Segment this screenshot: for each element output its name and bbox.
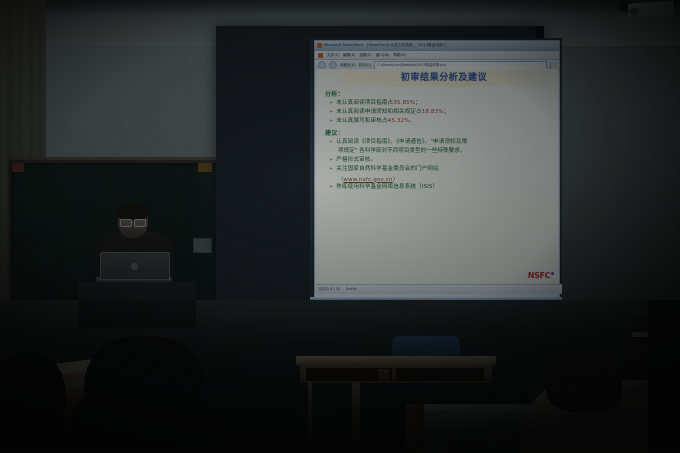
bullet-arrow-icon: ➢ <box>329 139 333 146</box>
audience-silhouette <box>72 392 222 453</box>
presenter-laptop <box>96 252 172 286</box>
bullet-text: 熟练使用科学基金网络信息系统（ISIS） <box>336 184 558 191</box>
presentation-slide: 初审结果分析及建议 分析： ➢ 未认真阅读项目指南占35.85%； ➢ 未认真阅… <box>316 69 558 284</box>
menu-bar[interactable]: 文件(F) 编辑(E) 查看(V) 窗口(W) 帮助(H) <box>315 51 559 60</box>
bullet-item: ➢ 未认真阅读申请须知和相关规定占18.83%； <box>329 109 558 116</box>
audience-silhouette <box>0 352 66 453</box>
blackboard-corner-mark <box>12 163 24 172</box>
slide-theme-name: Profile <box>346 285 357 294</box>
bullet-arrow-icon: ➢ <box>329 157 333 164</box>
bullet-item: ➢ 关注国家自然科学基金委员会的门户网站 <box>329 166 558 173</box>
blackboard-corner-mark-right <box>198 163 212 172</box>
bullet-value: 35.85% <box>393 100 415 106</box>
cup-on-shelf <box>378 369 389 381</box>
bullet-text: 未认真阅读项目指南占35.85%； <box>336 100 558 107</box>
powerpoint-app-icon <box>317 43 322 48</box>
section-heading-analysis: 分析： <box>325 89 558 98</box>
section-heading-suggestions: 建议： <box>325 128 558 137</box>
menu-item-file[interactable]: 文件(F) <box>327 51 339 59</box>
nsfc-logo: NSFC <box>528 271 554 280</box>
presenter-glasses <box>120 219 146 225</box>
projected-desktop: Microsoft PowerPoint - [PowerPoint 以实力的放… <box>310 38 562 310</box>
right-edge-shadow <box>648 300 680 453</box>
slide-title-banner: 初审结果分析及建议 <box>340 71 548 86</box>
bullet-arrow-icon: ➢ <box>329 109 333 116</box>
bullet-value: 45.32% <box>388 118 410 124</box>
bullet-continuation-text: 项规定" 各科学部对不同项目类型的一些特殊要求。 <box>338 148 558 155</box>
laptop-logo <box>131 263 138 270</box>
desk-shelf-divider <box>392 368 396 381</box>
desk-top <box>296 356 496 365</box>
bullet-text: 关注国家自然科学基金委员会的门户网站 <box>336 166 558 173</box>
projector-lens <box>630 8 639 15</box>
lecture-room-photo: Microsoft PowerPoint - [PowerPoint 以实力的放… <box>0 0 680 453</box>
bullet-text: 未认真撰写和审核占45.32%。 <box>336 118 558 125</box>
bullet-text: 认真阅读《项目指南》、《申请通告》、"申请须知及限 <box>336 139 558 146</box>
bullet-item: ➢ 熟练使用科学基金网络信息系统（ISIS） <box>329 184 558 191</box>
bullet-text-after: 。 <box>409 118 415 124</box>
menu-item-view[interactable]: 查看(V) <box>359 51 371 59</box>
bullet-text-after: ； <box>415 100 421 106</box>
laptop-screen <box>100 252 170 280</box>
forward-icon[interactable] <box>329 61 337 69</box>
bullet-value: 18.83% <box>422 109 444 115</box>
bullet-text-before: 未认真撰写和审核占 <box>336 118 387 124</box>
bullet-arrow-icon: ➢ <box>329 100 333 107</box>
presenter-hair <box>116 202 150 220</box>
nsfc-website-link[interactable]: www.nsfc.gov.cn <box>343 177 392 183</box>
document-icon <box>318 53 323 58</box>
wall-outlet <box>193 238 212 253</box>
window-title-bar: Microsoft PowerPoint - [PowerPoint 以实力的放… <box>315 41 559 51</box>
website-link-line: （www.nsfc.gov.cn） <box>338 175 558 183</box>
bullet-item: ➢ 未认真撰写和审核占45.32%。 <box>329 118 558 125</box>
menu-item-window[interactable]: 窗口(W) <box>376 51 390 59</box>
window-title-text: Microsoft PowerPoint - [PowerPoint 以实力的放… <box>324 41 446 50</box>
nsfc-logo-text: NSFC <box>528 271 550 280</box>
bullet-text-before: 未认真阅读申请须知和相关规定占 <box>336 109 421 115</box>
bullet-arrow-icon: ➢ <box>329 166 333 173</box>
bullet-item: ➢ 未认真阅读项目指南占35.85%； <box>329 100 558 107</box>
menu-item-edit[interactable]: 编辑(E) <box>343 51 355 59</box>
bullet-arrow-icon: ➢ <box>329 118 333 125</box>
address-bar-value: C:\Users\chen\Desktop\2013基金申报.ppt <box>377 62 446 69</box>
desk-leg <box>308 382 312 440</box>
ceiling-shadow <box>0 0 680 16</box>
link-suffix: ） <box>393 177 398 183</box>
powerpoint-window[interactable]: Microsoft PowerPoint - [PowerPoint 以实力的放… <box>314 40 560 298</box>
bullet-text-after: ； <box>444 109 450 115</box>
bullet-text: 未认真阅读申请须知和相关规定占18.83%； <box>336 109 558 116</box>
menu-item-help[interactable]: 帮助(H) <box>393 51 406 59</box>
bullet-arrow-icon: ➢ <box>329 184 333 191</box>
bullet-text: 严格形式审核。 <box>336 157 558 164</box>
chevron-down-icon[interactable] <box>550 62 556 69</box>
desk-leg <box>356 382 360 440</box>
bullet-item: ➢ 严格形式审核。 <box>329 157 558 164</box>
bullet-text-before: 未认真阅读项目指南占 <box>336 100 393 106</box>
front-desk-right-side <box>406 404 424 453</box>
slide-counter: 幻灯片 8 / 32 <box>319 285 340 294</box>
status-bar: 幻灯片 8 / 32 Profile <box>316 284 562 294</box>
presenter-podium <box>78 282 196 328</box>
audience-collar <box>572 396 620 414</box>
slide-title: 初审结果分析及建议 <box>401 71 487 86</box>
back-icon[interactable] <box>318 61 326 69</box>
bullet-item: ➢ 认真阅读《项目指南》、《申请通告》、"申请须知及限 <box>329 139 558 146</box>
nsfc-logo-dot <box>551 272 554 275</box>
